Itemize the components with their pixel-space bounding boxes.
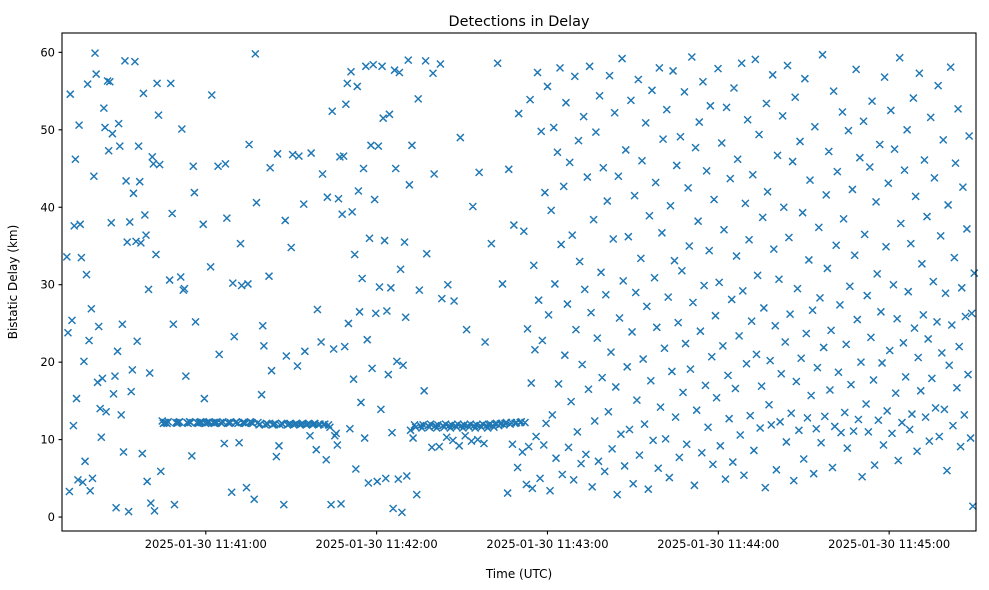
matplotlib-figure: Detections in Delay 2025-01-30 11:41:002… xyxy=(0,0,989,590)
y-axis-label: Bistatic Delay (km) xyxy=(6,225,20,340)
y-tick-label: 60 xyxy=(40,45,55,59)
y-tick-label: 50 xyxy=(40,123,55,137)
y-tick-label: 30 xyxy=(40,278,55,292)
x-tick-label: 2025-01-30 11:43:00 xyxy=(486,537,608,551)
y-tick-label: 20 xyxy=(40,355,55,369)
y-tick-label: 40 xyxy=(40,200,55,214)
x-tick-label: 2025-01-30 11:44:00 xyxy=(657,537,779,551)
y-tick-label: 0 xyxy=(48,510,55,524)
y-tick-label: 10 xyxy=(40,433,55,447)
x-tick-label: 2025-01-30 11:41:00 xyxy=(145,537,267,551)
x-axis-label: Time (UTC) xyxy=(485,567,552,581)
x-tick-label: 2025-01-30 11:42:00 xyxy=(316,537,438,551)
x-tick-label: 2025-01-30 11:45:00 xyxy=(828,537,950,551)
chart-title: Detections in Delay xyxy=(449,14,590,30)
scatter-plot-canvas: Detections in Delay 2025-01-30 11:41:002… xyxy=(0,0,989,590)
